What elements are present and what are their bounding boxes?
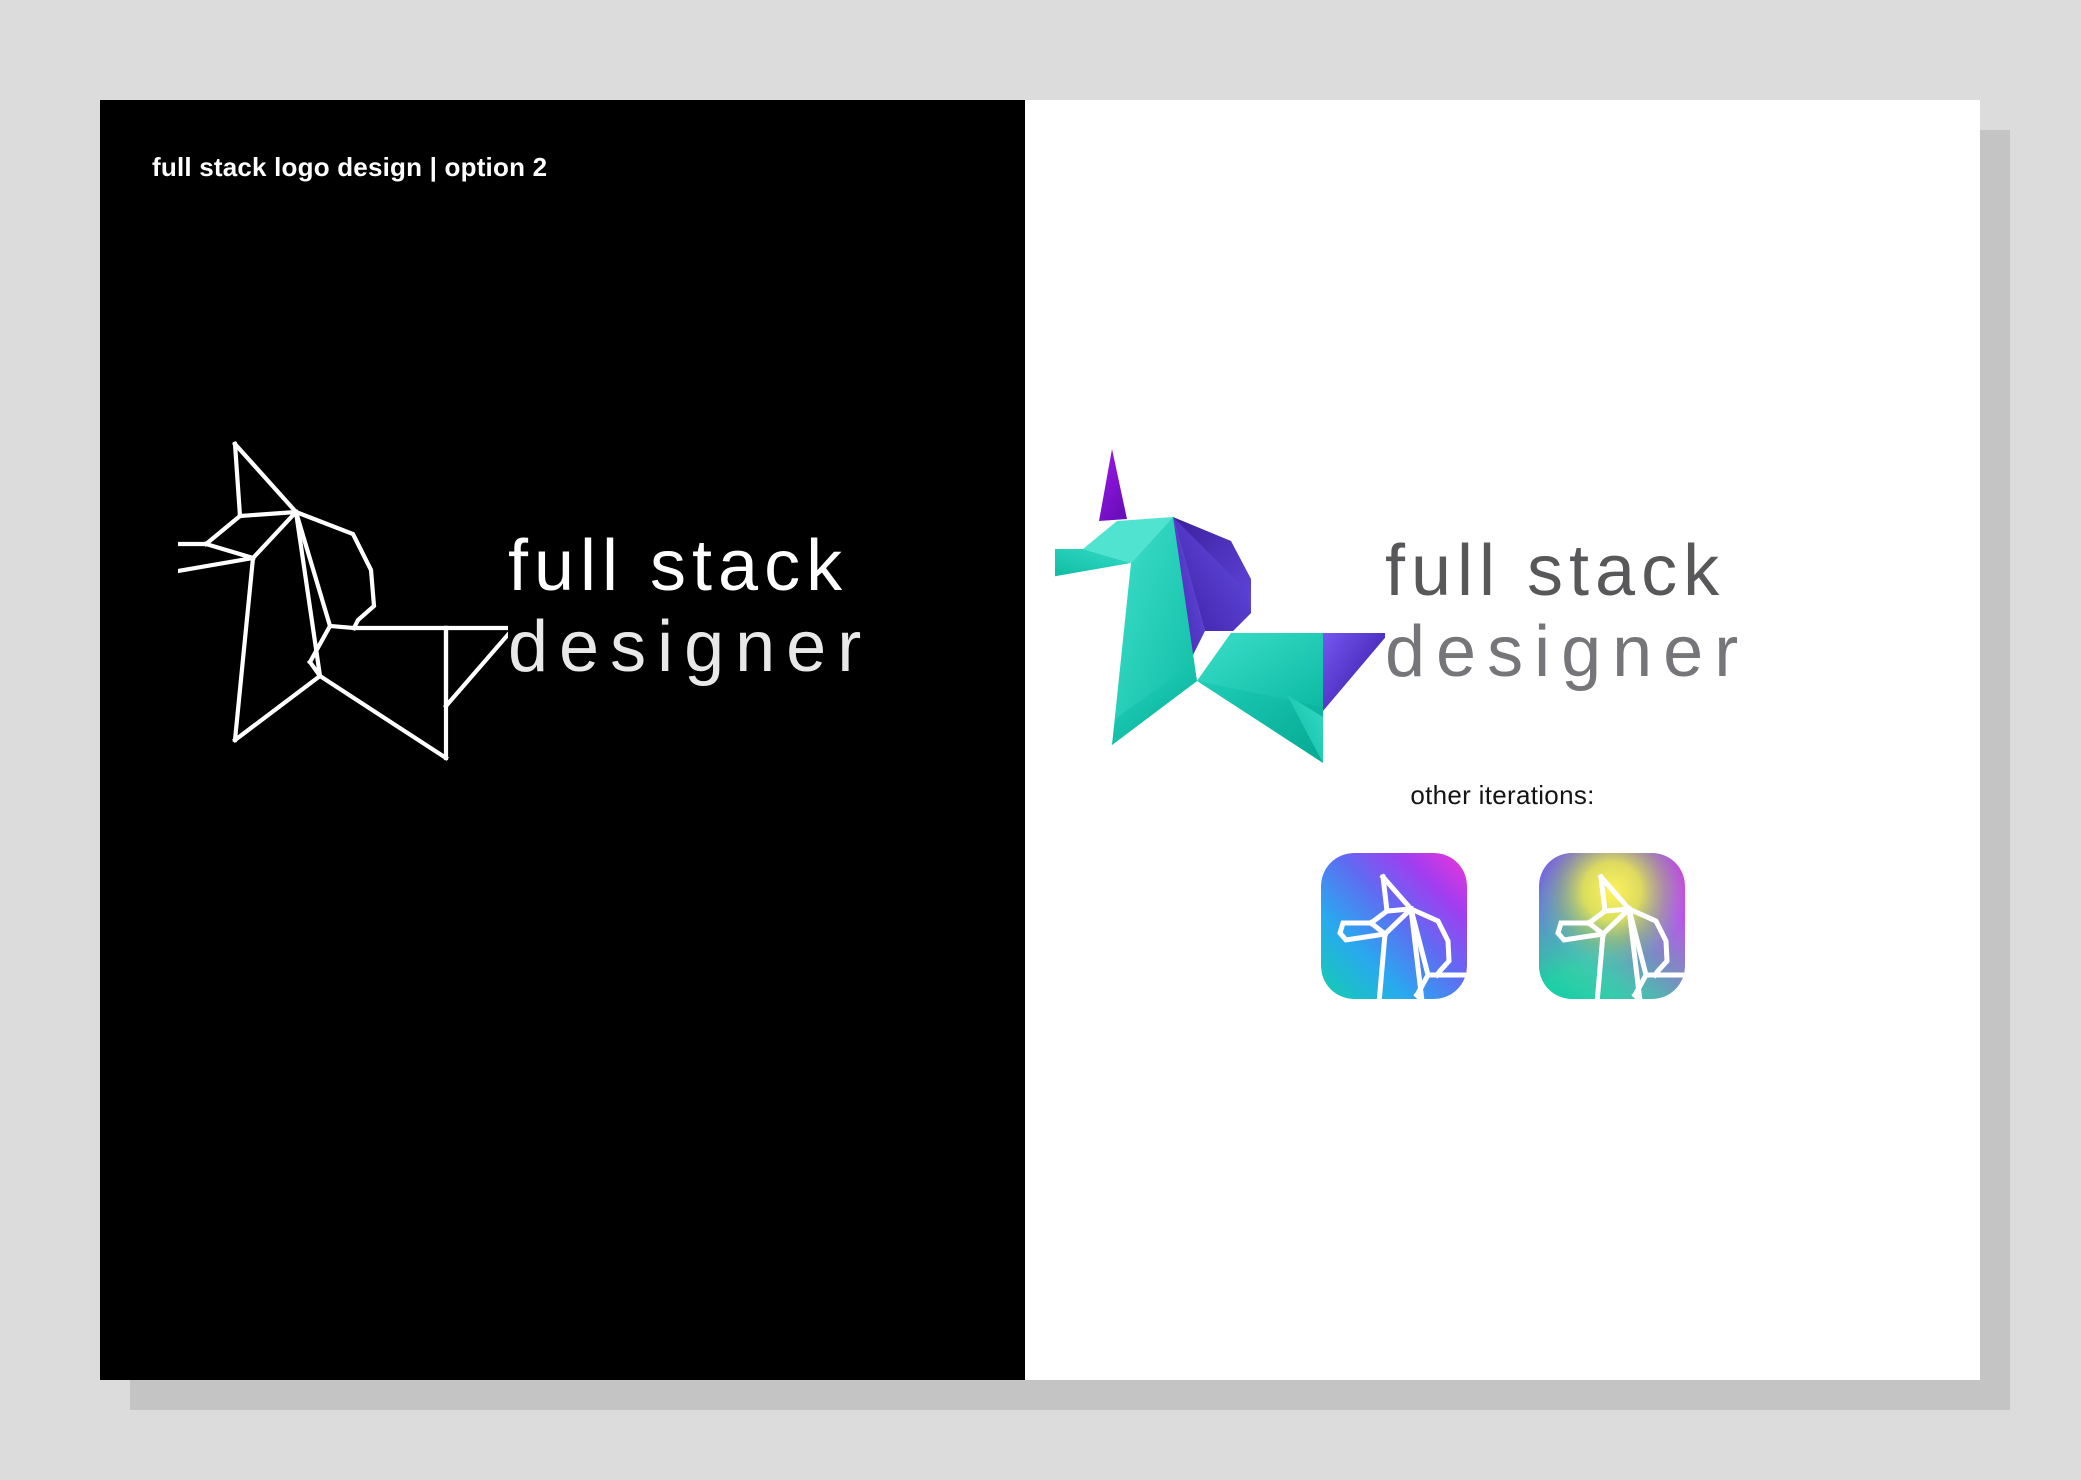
app-icon-blue-magenta[interactable] [1321, 853, 1467, 999]
app-icon-rainbow[interactable] [1539, 853, 1685, 999]
wordmark-gradient: full stack designer [1385, 535, 1749, 691]
origami-unicorn-outline-icon [178, 440, 508, 775]
wordmark-line-1: full stack [508, 530, 872, 602]
presentation-board: full stack logo design | option 2 [100, 100, 1980, 1380]
light-panel: full stack designer other iterations: [1025, 100, 1980, 1380]
logo-lockup-outline: full stack designer [178, 440, 872, 775]
logo-lockup-gradient: full stack designer [1055, 445, 1749, 780]
wordmark-line-1: full stack [1385, 535, 1749, 607]
wordmark-line-2: designer [508, 610, 872, 686]
iterations-section: other iterations: [1025, 780, 1980, 999]
iterations-label: other iterations: [1410, 780, 1594, 811]
icon-row [1321, 853, 1685, 999]
dark-panel: full stack logo design | option 2 [100, 100, 1025, 1380]
wordmark-outline: full stack designer [508, 530, 872, 686]
page-title: full stack logo design | option 2 [152, 152, 547, 183]
origami-unicorn-gradient-icon [1055, 445, 1385, 780]
wordmark-line-2: designer [1385, 615, 1749, 691]
